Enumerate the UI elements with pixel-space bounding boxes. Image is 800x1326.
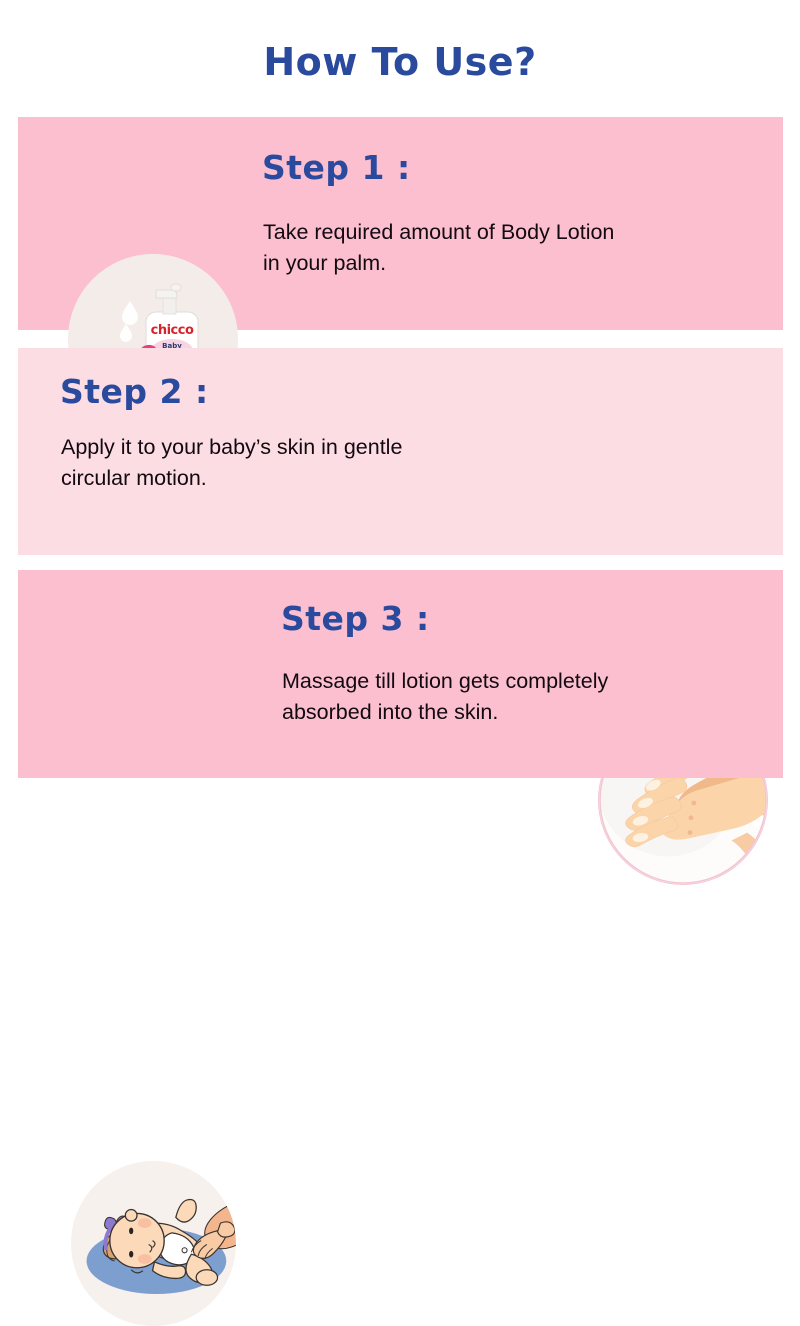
- step-1-heading: Step 1 :: [262, 148, 411, 187]
- svg-text:chicco: chicco: [151, 323, 194, 338]
- step-3-image: [71, 1161, 236, 1326]
- step-3-panel: Step 3 : Massage till lotion gets comple…: [18, 570, 783, 778]
- step-1-body: Take required amount of Body Lotion in y…: [263, 217, 783, 278]
- baby-being-massaged-illustration: [71, 1161, 236, 1326]
- page-title: How To Use?: [0, 40, 800, 84]
- step-3-heading: Step 3 :: [281, 599, 430, 638]
- step-3-body: Massage till lotion gets completely abso…: [282, 666, 782, 727]
- step-2-heading: Step 2 :: [60, 372, 209, 411]
- step-1-panel: chicco Baby Moments Body Lotion Crema Co…: [18, 117, 783, 330]
- step-2-body: Apply it to your baby’s skin in gentle c…: [61, 432, 561, 493]
- step-2-panel: Step 2 : Apply it to your baby’s skin in…: [18, 348, 783, 555]
- how-to-use-infographic: How To Use?: [0, 0, 800, 800]
